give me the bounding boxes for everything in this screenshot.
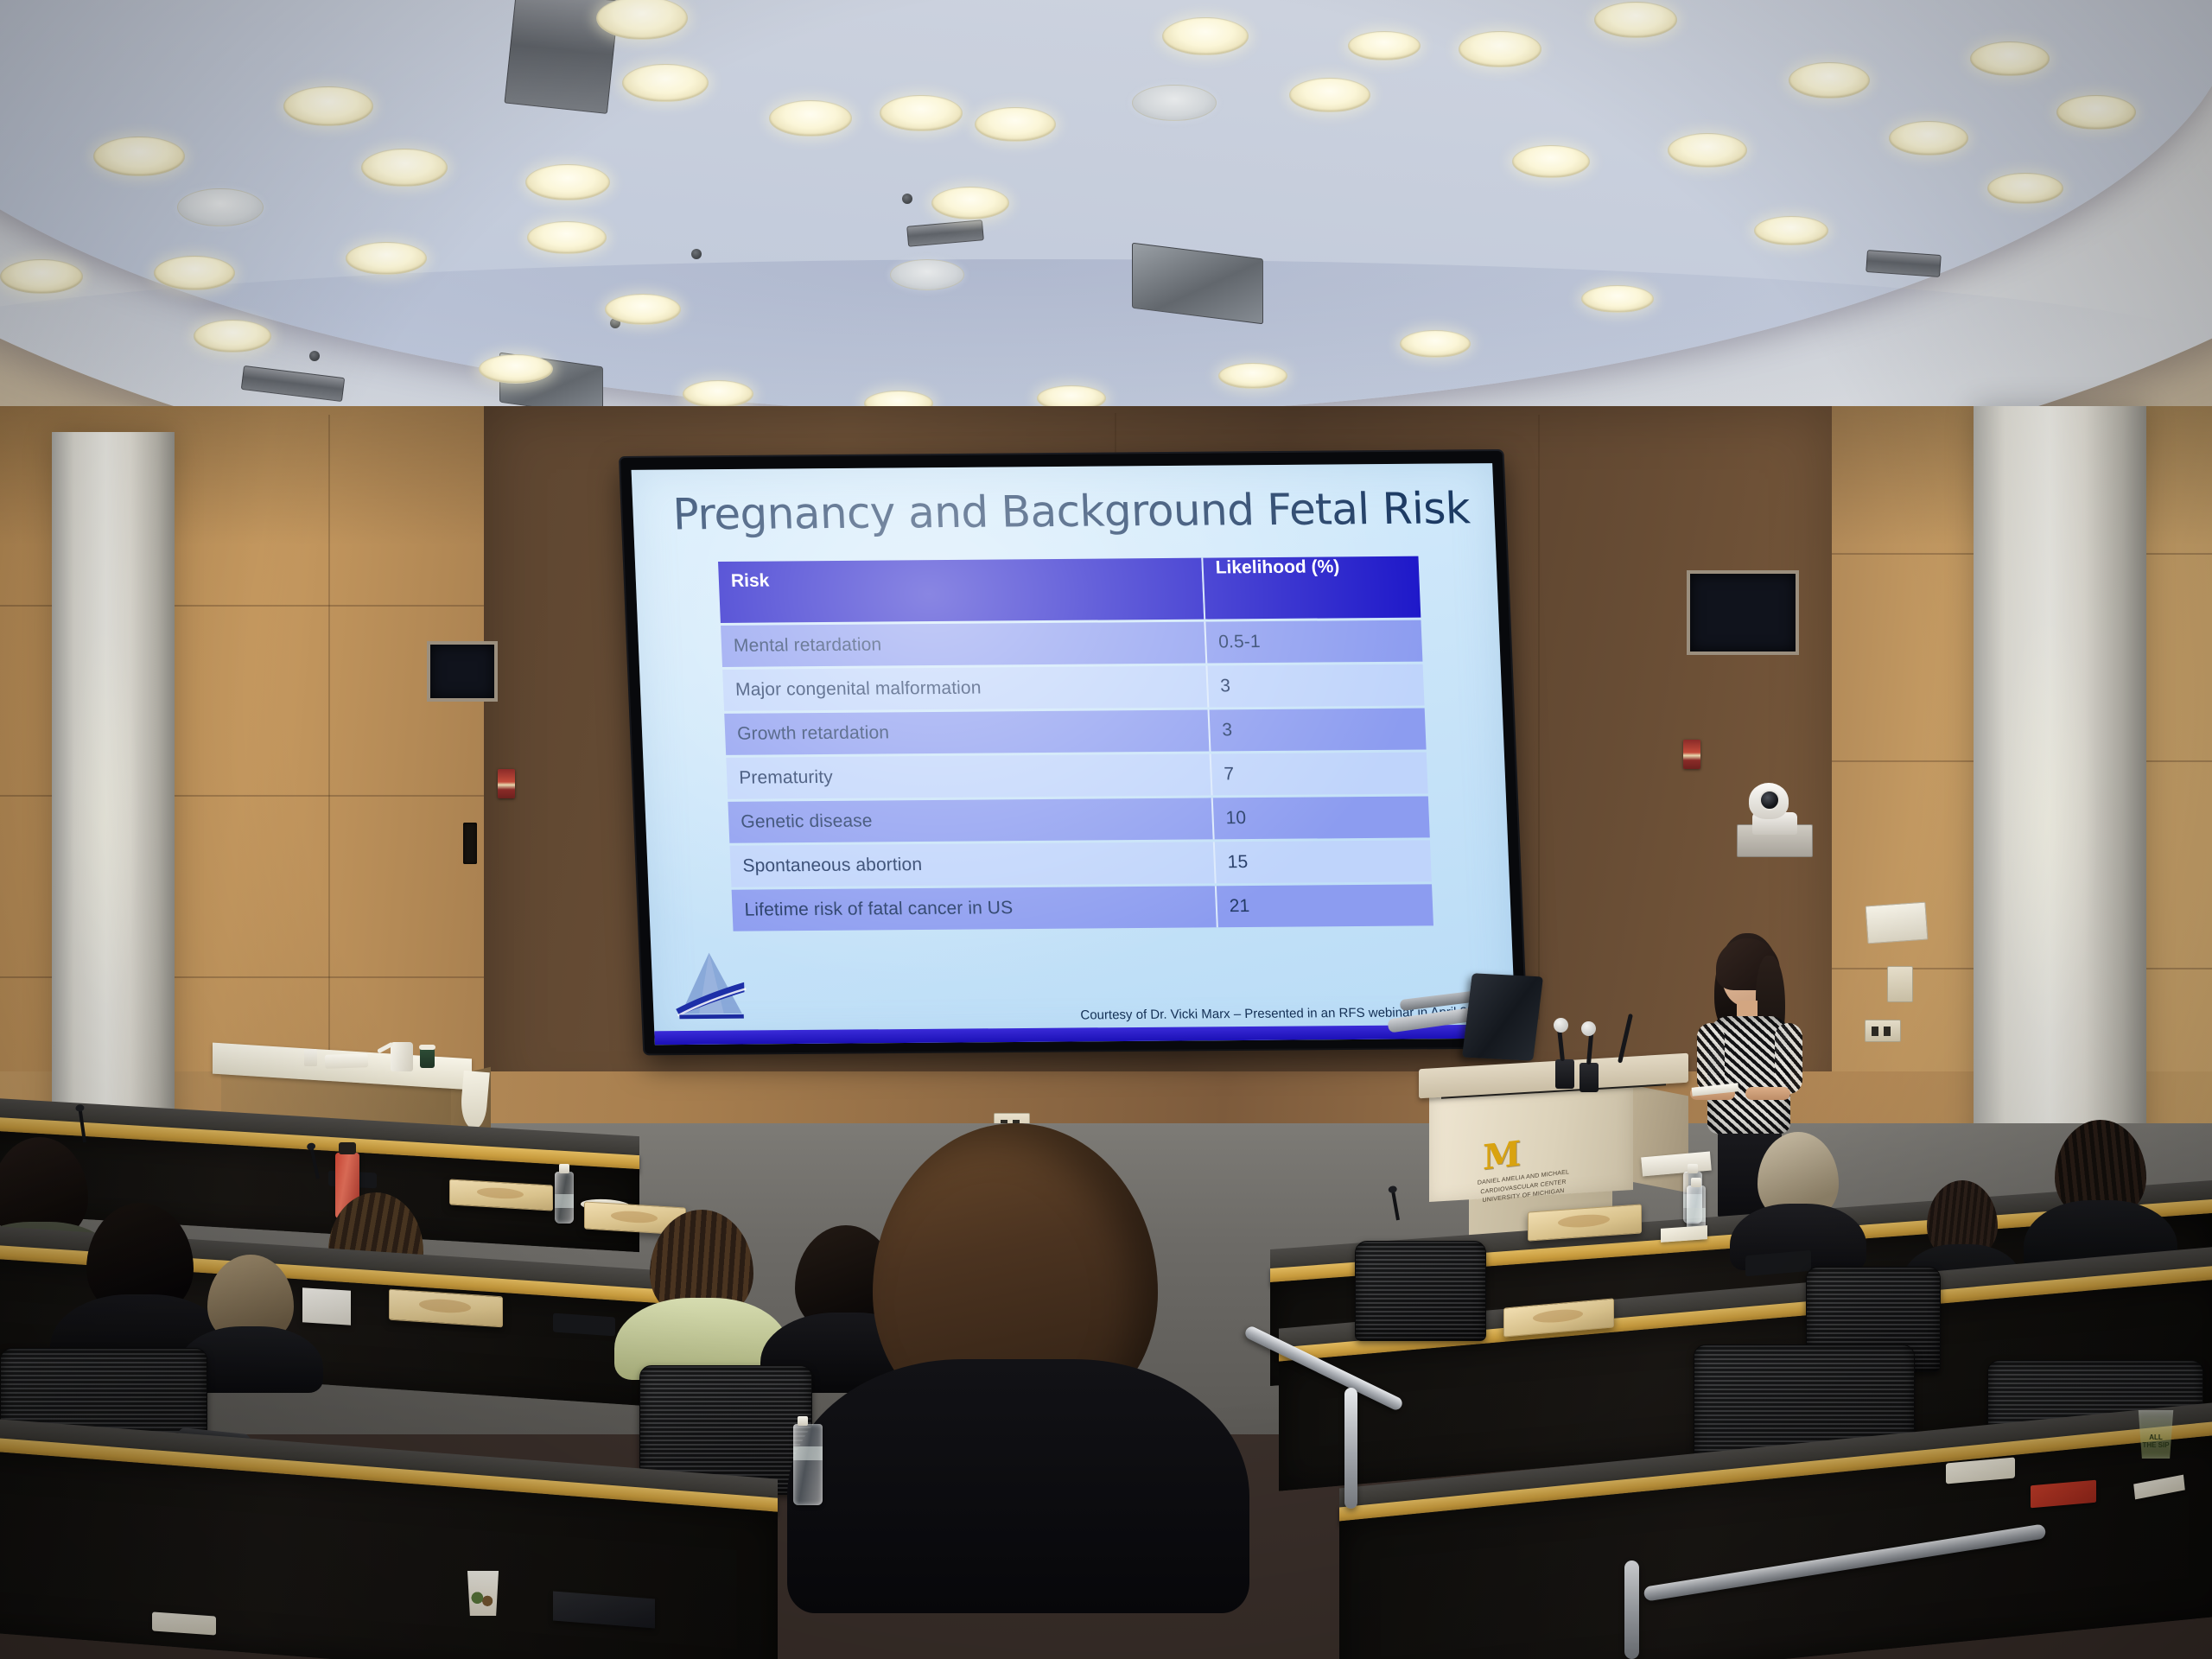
table-row: Lifetime risk of fatal cancer in US 21	[732, 884, 1433, 931]
ceiling-downlight	[931, 187, 1009, 219]
cell-risk: Prematurity	[726, 753, 1211, 798]
cell-risk: Mental retardation	[721, 622, 1205, 667]
lectern-front-panel: M DANIEL AMELIA AND MICHAEL CARDIOVASCUL…	[1429, 1081, 1633, 1202]
ceiling-downlight	[1400, 330, 1471, 358]
podium-mic-head-a	[1554, 1018, 1568, 1033]
chair-backrest[interactable]	[1355, 1241, 1486, 1341]
mouse-pad	[553, 1313, 615, 1337]
fire-alarm-strobe-left	[498, 769, 515, 798]
water-bottle	[555, 1172, 574, 1224]
wall-monitor-right	[1687, 570, 1799, 655]
ceiling-downlight	[1348, 31, 1421, 60]
task-chair[interactable]	[1355, 1241, 1486, 1341]
ceiling-downlight	[975, 107, 1056, 142]
presenter-forearm-right	[1745, 1087, 1790, 1100]
table-header-likelihood: Likelihood (%)	[1201, 556, 1421, 620]
cell-likelihood: 3	[1207, 709, 1426, 752]
ceiling-downlight	[1668, 133, 1747, 168]
sprinkler-head-d	[309, 351, 320, 361]
slide-bottom-bar	[654, 1025, 1516, 1046]
table-head: Risk Likelihood (%)	[718, 556, 1421, 623]
table-row: Major congenital malformation 3	[722, 664, 1424, 711]
ceiling-speaker-recessed-2	[1132, 85, 1217, 121]
audience-head	[2055, 1120, 2146, 1220]
plastic-cup: ALL THE SIP	[2136, 1410, 2176, 1459]
ceiling-downlight	[769, 100, 852, 137]
plastic-cup-label: ALL THE SIP	[2142, 1434, 2170, 1450]
cell-risk: Spontaneous abortion	[730, 842, 1215, 887]
sprinkler-head-a	[691, 249, 702, 259]
ceiling-downlight	[93, 137, 185, 176]
ceiling-downlight	[880, 95, 963, 131]
table-row: Prematurity 7	[726, 752, 1427, 798]
column-light-glow	[69, 619, 140, 1020]
ceiling-downlight	[194, 320, 271, 353]
table-row: Mental retardation 0.5-1	[721, 620, 1422, 667]
paper-coffee-cup	[465, 1571, 501, 1616]
presenter-sleeve-left	[1697, 1023, 1725, 1094]
presentation-slide: Pregnancy and Background Fetal Risk Risk…	[632, 463, 1516, 1045]
wall-panel-seam-v	[328, 415, 330, 1071]
aisle-handrail-post-center[interactable]	[1344, 1388, 1357, 1509]
ceiling-downlight	[1754, 216, 1828, 245]
audience-head	[650, 1210, 753, 1320]
water-bottle	[793, 1424, 823, 1505]
cell-risk: Lifetime risk of fatal cancer in US	[732, 886, 1217, 931]
cart-napkin-stack	[325, 1053, 369, 1069]
ceiling-downlight	[1512, 145, 1590, 178]
slide-title: Pregnancy and Background Fetal Risk	[672, 486, 1452, 537]
room-column-left	[52, 432, 175, 1149]
ptz-camera	[1737, 760, 1815, 857]
ceiling-downlight	[1289, 78, 1370, 112]
table-header-risk: Risk	[718, 558, 1204, 623]
audience-head	[207, 1255, 294, 1344]
ceiling-downlight	[361, 149, 448, 187]
cell-likelihood: 3	[1205, 664, 1424, 708]
desk-tier-left-front	[0, 1446, 778, 1659]
ceiling-downlight	[346, 242, 427, 275]
shoulders	[787, 1359, 1249, 1613]
ceiling-downlight	[1970, 41, 2050, 76]
lectern-side-panel	[1631, 1085, 1688, 1193]
ceiling-downlight	[525, 164, 610, 200]
projection-screen: Pregnancy and Background Fetal Risk Risk…	[620, 451, 1527, 1053]
ceiling-downlight	[479, 354, 553, 384]
ceiling-speaker-recessed	[177, 188, 264, 226]
presenter-sleeve-right	[1775, 1023, 1802, 1094]
ceiling-downlight	[283, 86, 373, 126]
ceiling-downlight	[2056, 95, 2136, 130]
podium-mic-head-b	[1581, 1021, 1596, 1036]
table-row: Spontaneous abortion 15	[730, 840, 1432, 887]
wall-document-holder	[1866, 902, 1929, 944]
wall-data-plate	[1887, 966, 1913, 1002]
table-body: Mental retardation 0.5-1 Major congenita…	[721, 620, 1433, 931]
wall-panel-seam-v	[1538, 415, 1540, 1020]
camera-lens-icon	[1759, 790, 1780, 810]
table-header-row: Risk Likelihood (%)	[718, 556, 1421, 623]
michigan-m-logo: M	[1483, 1136, 1521, 1175]
ceiling-downlight	[1889, 121, 1968, 156]
ceiling-downlight	[0, 259, 83, 294]
ceiling-downlight-dim	[890, 259, 964, 290]
cell-likelihood: 7	[1210, 752, 1428, 795]
cup-print-pattern	[470, 1592, 494, 1607]
cell-risk: Major congenital malformation	[722, 666, 1207, 711]
tablet-on-stand	[302, 1287, 351, 1325]
coffee-airpot	[391, 1042, 413, 1071]
ceiling-downlight	[1459, 31, 1541, 67]
table-row: Genetic disease 10	[728, 796, 1429, 842]
ceiling-downlight	[154, 256, 235, 290]
cart-cup-stack	[304, 1049, 317, 1066]
ceiling-downlight	[1218, 363, 1287, 389]
wall-monitor-left	[427, 641, 498, 702]
foreground-audience-head	[873, 1123, 1158, 1426]
ceiling-downlight	[1581, 285, 1654, 313]
table-row: Growth retardation 3	[724, 709, 1426, 755]
podium-mic-base-b	[1580, 1063, 1599, 1092]
cell-likelihood: 0.5-1	[1204, 620, 1422, 664]
podium-monitor	[1462, 973, 1543, 1061]
lecture-hall-scene: Pregnancy and Background Fetal Risk Risk…	[0, 0, 2212, 1659]
ceiling-downlight	[1789, 62, 1870, 99]
aisle-handrail-post-right[interactable]	[1624, 1560, 1639, 1659]
audience-head	[86, 1203, 194, 1317]
blue-pyramid-sail-logo	[671, 950, 748, 1021]
column-light-glow	[1998, 608, 2098, 1044]
ceiling-downlight	[527, 221, 607, 254]
fetal-risk-table: Risk Likelihood (%) Mental retardation 0…	[718, 554, 1433, 934]
ceiling-downlight	[1987, 173, 2063, 204]
fire-alarm-strobe-right	[1683, 740, 1700, 769]
ceiling-downlight	[622, 64, 709, 102]
audience-head	[1758, 1132, 1839, 1222]
wall-conduit-slot-left	[463, 823, 477, 864]
screen-bezel: Pregnancy and Background Fetal Risk Risk…	[620, 451, 1527, 1053]
cell-risk: Growth retardation	[724, 710, 1209, 755]
ceiling-downlight	[1594, 2, 1677, 38]
podium-mic-base-a	[1555, 1059, 1574, 1089]
audience-head	[1927, 1180, 1998, 1260]
room-column-right	[1974, 406, 2146, 1184]
green-coffee-cup	[420, 1047, 435, 1068]
sprinkler-head-c	[902, 194, 912, 204]
ceiling-downlight	[605, 294, 681, 325]
cell-likelihood: 15	[1213, 840, 1432, 883]
cell-risk: Genetic disease	[728, 798, 1212, 842]
ceiling-downlight	[683, 380, 753, 408]
cell-likelihood: 10	[1211, 796, 1430, 839]
cell-likelihood: 21	[1215, 884, 1433, 927]
wall-power-outlet	[1865, 1020, 1901, 1042]
ceiling-downlight	[1162, 17, 1249, 55]
